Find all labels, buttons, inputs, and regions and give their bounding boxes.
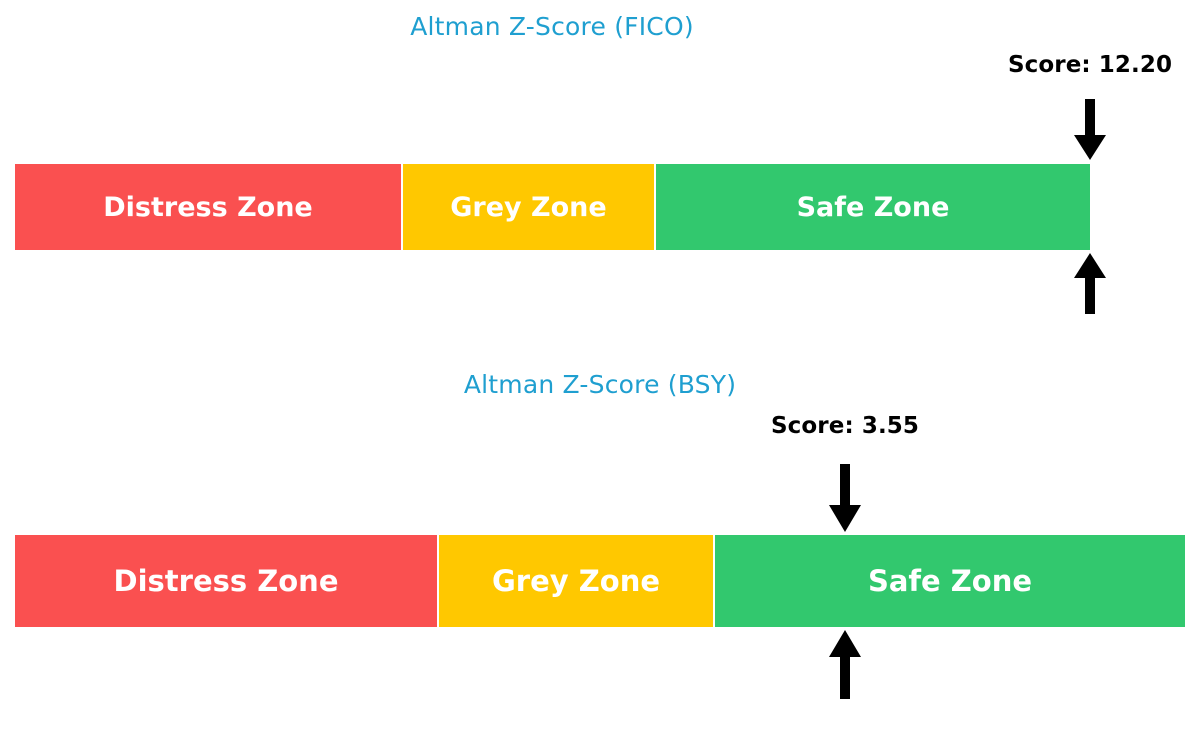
- zone-label-safe-fico: Safe Zone: [797, 194, 950, 221]
- zone-bar-bsy: Distress Zone Grey Zone Safe Zone: [15, 535, 1185, 627]
- zone-grey-bsy: Grey Zone: [439, 535, 715, 627]
- zone-label-grey-bsy: Grey Zone: [492, 567, 660, 596]
- zone-safe-fico: Safe Zone: [656, 164, 1090, 250]
- figure-canvas: Altman Z-Score (FICO) Score: 12.20 Distr…: [0, 0, 1200, 743]
- zone-grey-fico: Grey Zone: [403, 164, 656, 250]
- zone-label-distress-fico: Distress Zone: [103, 194, 312, 221]
- score-label-fico: Score: 12.20: [1008, 52, 1172, 78]
- zone-distress-fico: Distress Zone: [15, 164, 403, 250]
- up-arrow-icon-fico: [1073, 253, 1107, 315]
- zone-bar-fico: Distress Zone Grey Zone Safe Zone: [15, 164, 1090, 250]
- zone-label-grey-fico: Grey Zone: [450, 194, 606, 221]
- score-label-bsy: Score: 3.55: [771, 413, 919, 439]
- down-arrow-icon-fico: [1073, 99, 1107, 161]
- zone-label-safe-bsy: Safe Zone: [868, 567, 1032, 596]
- up-arrow-icon-bsy: [828, 630, 862, 700]
- chart-title-fico: Altman Z-Score (FICO): [410, 12, 694, 41]
- zone-label-distress-bsy: Distress Zone: [114, 567, 339, 596]
- chart-title-bsy: Altman Z-Score (BSY): [464, 370, 736, 399]
- zone-safe-bsy: Safe Zone: [715, 535, 1185, 627]
- zone-distress-bsy: Distress Zone: [15, 535, 439, 627]
- down-arrow-icon-bsy: [828, 464, 862, 533]
